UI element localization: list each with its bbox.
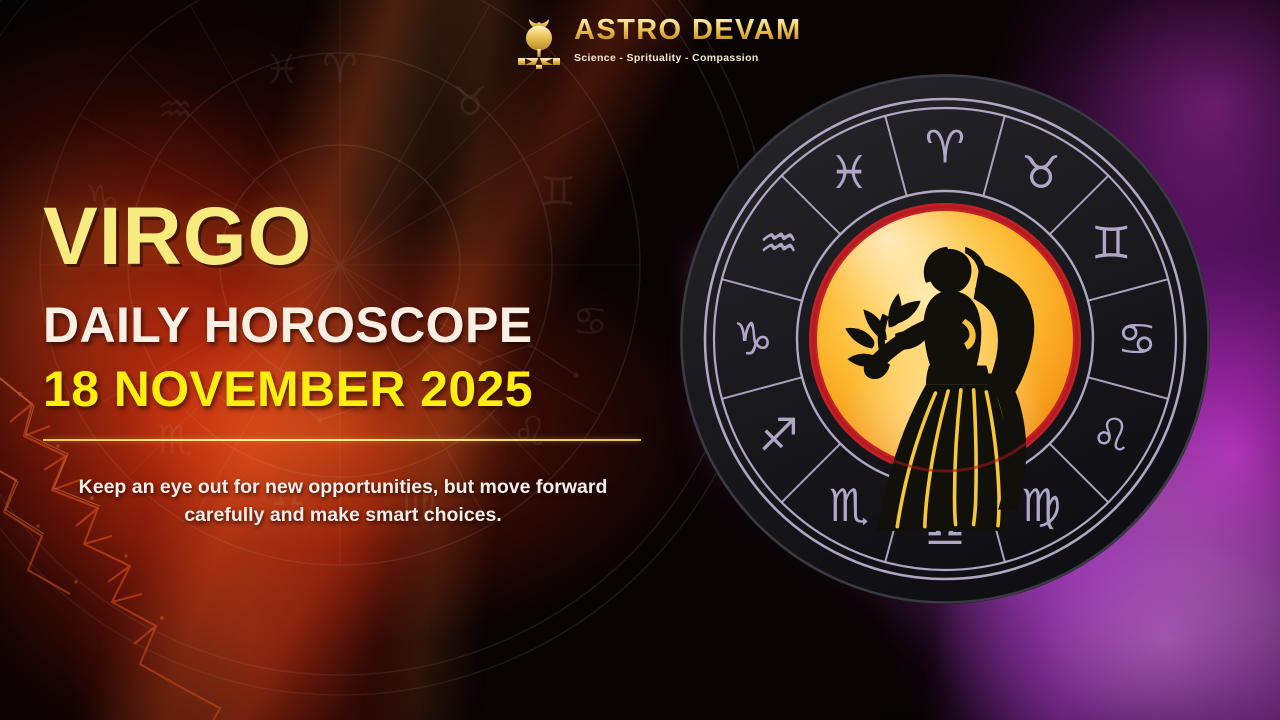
zodiac-symbol-virgo: ♍	[1021, 479, 1061, 532]
zodiac-symbol-taurus: ♉	[1021, 146, 1061, 199]
zodiac-symbol-leo: ♌	[1091, 409, 1131, 462]
zodiac-symbol-sagittarius: ♐	[759, 409, 799, 462]
zodiac-symbol-capricorn: ♑	[733, 313, 773, 366]
kalash-crescent-emblem-icon	[515, 8, 563, 72]
horoscope-date: 18 NOVEMBER 2025	[43, 364, 663, 414]
brand-tagline: Science - Sprituality - Compassion	[574, 52, 802, 64]
gold-divider	[43, 439, 641, 441]
zodiac-symbol-cancer: ♋	[1117, 313, 1157, 366]
horoscope-blurb: Keep an eye out for new opportunities, b…	[43, 474, 643, 529]
zodiac-symbol-gemini: ♊	[1091, 217, 1131, 270]
zodiac-wheel: ♈♉♊♋♌♍♎♏♐♑♒♓	[678, 72, 1212, 606]
zodiac-symbol-aries: ♈	[925, 121, 965, 174]
headline-block: VIRGO DAILY HOROSCOPE 18 NOVEMBER 2025 K…	[43, 196, 663, 529]
brand-rule	[574, 48, 802, 50]
horoscope-poster: ♈ ♉ ♊ ♋ ♌ ♍ ♎ ♏ ♐ ♑ ♒ ♓	[0, 0, 1280, 720]
zodiac-sign-title: VIRGO	[43, 196, 663, 278]
brand-title: ASTRO DEVAM	[574, 16, 802, 46]
brand-logo: ASTRO DEVAM Science - Sprituality - Comp…	[515, 8, 802, 72]
page-subtitle: DAILY HOROSCOPE	[43, 300, 663, 350]
zodiac-symbol-scorpio: ♏	[829, 479, 869, 532]
zodiac-symbol-pisces: ♓	[829, 146, 869, 199]
zodiac-symbol-aquarius: ♒	[759, 217, 799, 270]
